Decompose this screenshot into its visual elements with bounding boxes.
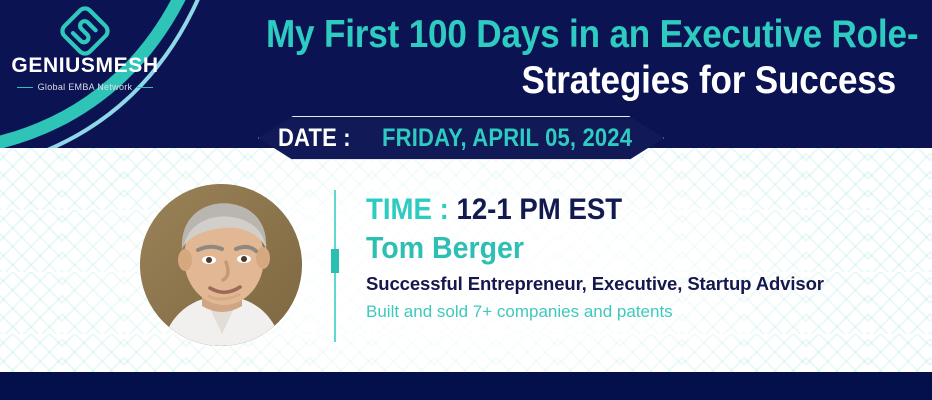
speaker-role: Successful Entrepreneur, Executive, Star… xyxy=(366,271,916,297)
speaker-info-block: TIME : 12-1 PM EST Tom Berger Successful… xyxy=(366,192,916,324)
event-time-row: TIME : 12-1 PM EST xyxy=(366,192,872,228)
event-title-line-1: My First 100 Days in an Executive Role- xyxy=(266,12,896,58)
brand-tagline: Global EMBA Network xyxy=(38,82,133,92)
brand-wordmark: GENIUSMESH xyxy=(10,54,160,78)
date-label: DATE : xyxy=(278,125,351,151)
geniusmesh-diamond-logo-icon xyxy=(58,6,112,56)
speaker-name: Tom Berger xyxy=(366,229,872,266)
event-title: My First 100 Days in an Executive Role- … xyxy=(196,12,896,104)
footer-bar xyxy=(0,372,932,400)
date-banner: DATE : FRIDAY, APRIL 05, 2024 xyxy=(258,116,664,160)
tagline-rule-right xyxy=(137,87,153,88)
brand-tagline-row: Global EMBA Network xyxy=(10,82,160,92)
date-value: FRIDAY, APRIL 05, 2024 xyxy=(382,125,632,151)
speaker-tagline: Built and sold 7+ companies and patents xyxy=(366,299,916,324)
speaker-headshot-illustration xyxy=(140,184,302,346)
time-value: 12-1 PM EST xyxy=(456,193,622,226)
tagline-rule-left xyxy=(17,87,33,88)
event-title-line-2: Strategies for Success xyxy=(266,58,896,104)
time-label: TIME : xyxy=(366,193,449,226)
brand-logo: GENIUSMESH Global EMBA Network xyxy=(10,6,160,102)
speaker-headshot xyxy=(140,184,302,346)
vertical-divider-accent xyxy=(331,249,339,273)
webinar-promo-banner: GENIUSMESH Global EMBA Network My First … xyxy=(0,0,932,400)
